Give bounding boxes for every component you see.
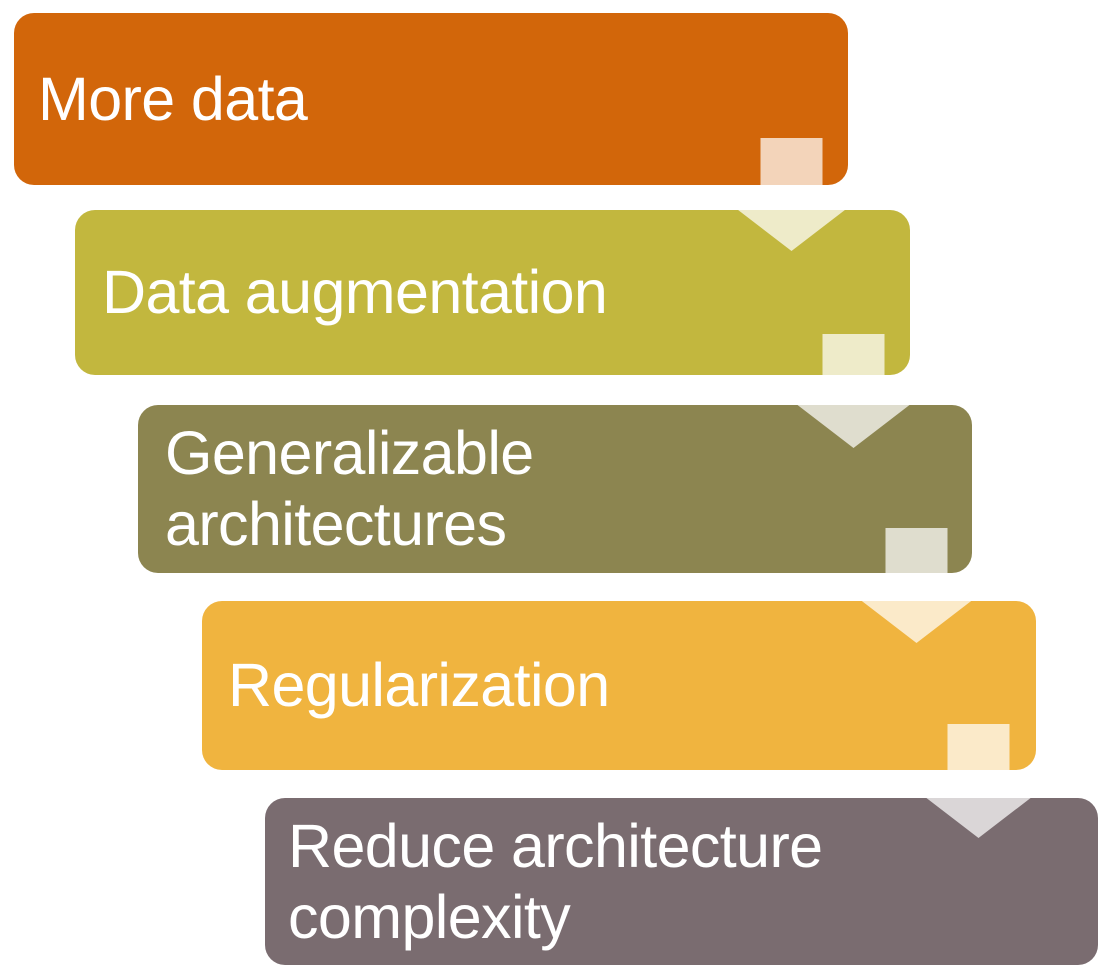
step-label-regularization: Regularization	[228, 650, 610, 721]
step-box-more-data[interactable]: More data	[14, 13, 848, 185]
step-box-reduce-architecture-complexity[interactable]: Reduce architecture complexity	[265, 798, 1098, 965]
diagram-canvas: More data Data augmentation Generalizabl…	[0, 0, 1110, 979]
step-box-data-augmentation[interactable]: Data augmentation	[75, 210, 910, 375]
step-label-data-augmentation: Data augmentation	[102, 257, 607, 328]
step-box-regularization[interactable]: Regularization	[202, 601, 1036, 770]
step-box-generalizable-architectures[interactable]: Generalizable architectures	[138, 405, 972, 573]
step-label-more-data: More data	[38, 64, 307, 135]
step-label-generalizable-architectures: Generalizable architectures	[165, 418, 534, 560]
step-label-reduce-architecture-complexity: Reduce architecture complexity	[288, 811, 823, 953]
